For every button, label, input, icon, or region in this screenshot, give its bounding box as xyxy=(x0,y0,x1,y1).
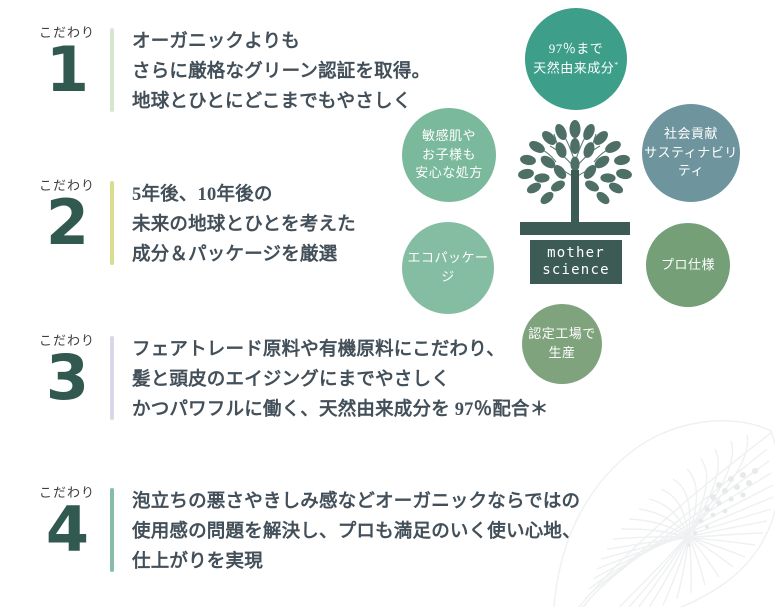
feature-bubble-text: 社会貢献サスティナビリティ xyxy=(642,125,740,182)
feature-bubble-line: サスティナビリティ xyxy=(642,144,740,182)
feature-bubble-text: 97％まで天然由来成分* xyxy=(533,40,618,78)
feature-bubble-line: 敏感肌や xyxy=(415,127,483,146)
feature-bubble-text: エコパッケージ xyxy=(402,249,494,287)
feature-bubble-text: 認定工場で生産 xyxy=(528,325,596,363)
point-text: 泡立ちの悪さやきしみ感などオーガニックならではの使用感の問題を解決し、プロも満足… xyxy=(132,482,581,578)
feature-bubble-line: 安心な処方 xyxy=(415,164,483,183)
point-row: こだわり4泡立ちの悪さやきしみ感などオーガニックならではの使用感の問題を解決し、… xyxy=(28,482,581,578)
logo-plate: mother science xyxy=(530,240,622,284)
feature-bubble-social-contribution: 社会貢献サスティナビリティ xyxy=(642,104,740,202)
feature-bubble-line: 生産 xyxy=(528,344,596,363)
point-divider-bar xyxy=(110,181,114,265)
feature-bubble-text: 敏感肌やお子様も安心な処方 xyxy=(415,127,483,184)
point-divider-bar xyxy=(110,28,114,112)
feature-bubble-sensitive-skin: 敏感肌やお子様も安心な処方 xyxy=(402,108,496,202)
footnote-asterisk: * xyxy=(614,60,618,69)
feature-bubble-line: エコパッケージ xyxy=(402,249,494,287)
logo-ground-bar xyxy=(520,222,630,235)
feature-bubble-line: お子様も xyxy=(415,146,483,165)
point-text-line: 成分＆パッケージを厳選 xyxy=(132,241,356,271)
feature-bubble-line: プロ仕様 xyxy=(661,256,715,275)
point-text-line: かつパワフルに働く、天然由来成分を 97％配合＊ xyxy=(132,396,548,426)
feature-bubble-certified-factory: 認定工場で生産 xyxy=(522,304,602,384)
point-divider-bar xyxy=(110,488,114,572)
point-divider-bar xyxy=(110,336,114,420)
feature-bubble-line: 97％まで xyxy=(533,40,618,59)
feature-bubble-pro-spec: プロ仕様 xyxy=(646,223,730,307)
feature-bubble-natural-origin: 97％まで天然由来成分* xyxy=(525,8,627,110)
point-text-line: 泡立ちの悪さやきしみ感などオーガニックならではの xyxy=(132,488,581,518)
point-number-block: こだわり4 xyxy=(28,482,106,558)
point-number-block: こだわり1 xyxy=(28,22,106,98)
feature-bubble-eco-package: エコパッケージ xyxy=(402,222,494,314)
feature-bubble-line: 認定工場で xyxy=(528,325,596,344)
brand-logo: mother science xyxy=(516,120,634,280)
tree-icon xyxy=(516,120,634,230)
feature-bubble-text: プロ仕様 xyxy=(661,256,715,275)
point-row: こだわり1オーガニックよりもさらに厳格なグリーン認証を取得。地球とひとにどこまで… xyxy=(28,22,430,118)
point-number-block: こだわり3 xyxy=(28,330,106,406)
point-number: 4 xyxy=(28,501,106,558)
point-text-line: 5年後、10年後の xyxy=(132,181,356,211)
logo-text-line2: science xyxy=(542,262,609,279)
point-text-line: 使用感の問題を解決し、プロも満足のいく使い心地、 xyxy=(132,518,581,548)
feature-bubble-line: 天然由来成分* xyxy=(533,59,618,78)
point-number: 2 xyxy=(28,194,106,251)
point-number: 3 xyxy=(28,349,106,406)
point-text-line: 未来の地球とひとを考えた xyxy=(132,211,356,241)
infographic-page: こだわり1オーガニックよりもさらに厳格なグリーン認証を取得。地球とひとにどこまで… xyxy=(0,0,775,607)
point-text-line: 仕上がりを実現 xyxy=(132,548,581,578)
point-number: 1 xyxy=(28,41,106,98)
logo-text-line1: mother xyxy=(547,245,605,262)
point-text: 5年後、10年後の未来の地球とひとを考えた成分＆パッケージを厳選 xyxy=(132,175,356,271)
feature-bubble-line: 社会貢献 xyxy=(642,125,740,144)
point-number-block: こだわり2 xyxy=(28,175,106,251)
point-row: こだわり25年後、10年後の未来の地球とひとを考えた成分＆パッケージを厳選 xyxy=(28,175,356,271)
